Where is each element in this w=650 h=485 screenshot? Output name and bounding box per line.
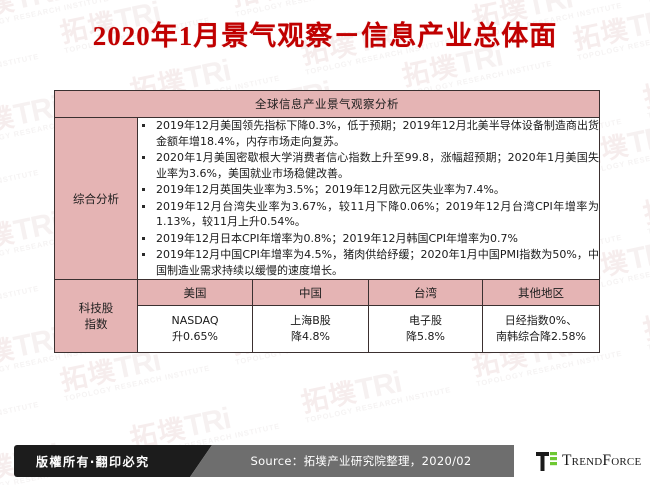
list-item: 2019年12月中国CPI年增率为4.5%，猪肉供给纾缓；2020年1月中国PM… [138,247,599,278]
trendforce-logo-icon [536,452,557,471]
watermark-mark: 拓墣TRiTOPOLOGY RESEARCH INSTITUTE [297,351,452,425]
watermark-mark: 拓墣TRiTOPOLOGY RESEARCH INSTITUTE [639,0,650,4]
analysis-content-cell: 2019年12月美国领先指标下降0.3%，低于预期；2019年12月北美半导体设… [138,118,600,280]
watermark-subtitle: TOPOLOGY RESEARCH INSTITUTE [646,80,650,120]
watermark-cn-text: 拓墣 [641,188,650,229]
watermark-cn-text: 拓墣 [0,218,18,259]
region-value-china-line2: 降4.8% [253,329,368,345]
region-header-china: 中国 [253,280,369,306]
watermark-subtitle: TOPOLOGY RESEARCH INSTITUTE [646,0,650,4]
watermark-cn-text: 拓墣 [0,102,18,143]
region-value-taiwan-line2: 降5.8% [369,329,482,345]
watermark-mark: 拓墣TRiTOPOLOGY RESEARCH INSTITUTE [639,278,650,352]
watermark-subtitle: TOPOLOGY RESEARCH INSTITUTE [304,385,451,425]
watermark-subtitle: TOPOLOGY RESEARCH INSTITUTE [646,312,650,352]
region-value-other-line2: 南韩综合降2.58% [483,329,599,345]
region-value-us: NASDAQ 升0.65% [138,306,253,353]
stock-index-row-label: 科技股 指数 [55,280,138,353]
region-header-other: 其他地区 [483,280,600,306]
watermark-cn-text: 拓墣 [229,0,290,12]
source-text: Source：拓墣产业研究院整理，2020/02 [251,453,480,469]
watermark-mark: 拓墣TRiTOPOLOGY RESEARCH INSTITUTE [639,162,650,236]
watermark-cn-text: 拓墣 [400,51,461,92]
watermark-subtitle: TOPOLOGY RESEARCH INSTITUTE [475,349,622,389]
region-value-taiwan-line1: 电子股 [369,313,482,329]
list-item: 2019年12月英国失业率为3.5%；2019年12月欧元区失业率为7.4%。 [138,182,599,198]
footer-inner: 版權所有‧翻印必究 Source：拓墣产业研究院整理，2020/02 Trend… [14,445,636,477]
list-item: 2020年1月美国密歇根大学消费者信心指数上升至99.8，涨幅超预期；2020年… [138,150,599,181]
watermark-subtitle: TOPOLOGY RESEARCH INSTITUTE [0,400,40,440]
watermark-tri-text: TRi [625,119,650,161]
region-header-us: 美国 [138,280,253,306]
region-value-other: 日经指数0%、 南韩综合降2.58% [483,306,600,353]
trendforce-logo: TrendForce [514,445,650,477]
watermark-tri-text: TRi [283,0,334,1]
table-header-row: 全球信息产业景气观察分析 [55,91,600,118]
list-item: 2019年12月台湾失业率为3.67%，较11月下降0.06%；2019年12月… [138,199,599,230]
watermark-tri-text: TRi [625,235,650,277]
analysis-bullet-list: 2019年12月美国领先指标下降0.3%，低于预期；2019年12月北美半导体设… [138,118,599,278]
watermark-mark: 拓墣TRiTOPOLOGY RESEARCH INSTITUTE [0,366,40,440]
watermark-cn-text: 拓墣 [0,334,18,375]
analysis-row-label: 综合分析 [55,118,138,280]
watermark-subtitle: TOPOLOGY RESEARCH INSTITUTE [646,196,650,236]
watermark-subtitle: TOPOLOGY RESEARCH INSTITUTE [0,284,40,324]
copyright-text: 版權所有‧翻印必究 [14,453,150,470]
region-value-other-line1: 日经指数0%、 [483,313,599,329]
region-value-us-line1: NASDAQ [138,313,252,329]
region-value-us-line2: 升0.65% [138,329,252,345]
slide-footer: 版權所有‧翻印必究 Source：拓墣产业研究院整理，2020/02 Trend… [0,437,650,485]
watermark-cn-text: 拓墣 [641,72,650,113]
region-header-taiwan: 台湾 [369,280,483,306]
region-value-china-line1: 上海B股 [253,313,368,329]
region-header-row: 科技股 指数 美国 中国 台湾 其他地区 [55,280,600,306]
watermark-mark: 拓墣TRiTOPOLOGY RESEARCH INSTITUTE [0,250,40,324]
slide-title-bar: 2020年1月景气观察－信息产业总体面 [0,14,650,53]
watermark-mark: 拓墣TRiTOPOLOGY RESEARCH INSTITUTE [0,134,40,208]
table-header-title: 全球信息产业景气观察分析 [55,91,600,118]
list-item: 2019年12月美国领先指标下降0.3%，低于预期；2019年12月北美半导体设… [138,118,599,149]
region-value-china: 上海B股 降4.8% [253,306,369,353]
watermark-mark: 拓墣TRiTOPOLOGY RESEARCH INSTITUTE [639,46,650,120]
watermark-subtitle: TOPOLOGY RESEARCH INSTITUTE [0,52,40,92]
watermark-cn-text: 拓墣 [641,304,650,345]
region-value-taiwan: 电子股 降5.8% [369,306,483,353]
page-title: 2020年1月景气观察－信息产业总体面 [93,21,558,51]
stock-index-label-line1: 科技股 [55,300,137,316]
source-bar: Source：拓墣产业研究院整理，2020/02 [190,445,540,477]
watermark-cn-text: 拓墣 [58,355,119,396]
watermark-cn-text: 拓墣 [299,377,360,418]
watermark-tri-text: TRi [353,366,404,408]
list-item: 2019年12月日本CPI年增率为0.8%；2019年12月韩国CPI年增率为0… [138,231,599,247]
watermark-subtitle: TOPOLOGY RESEARCH INSTITUTE [63,363,210,403]
trendforce-logo-text: TrendForce [562,452,641,470]
analysis-row: 综合分析 2019年12月美国领先指标下降0.3%，低于预期；2019年12月北… [55,118,600,280]
observation-table: 全球信息产业景气观察分析 综合分析 2019年12月美国领先指标下降0.3%，低… [54,90,600,353]
stock-index-label-line2: 指数 [55,316,137,332]
watermark-subtitle: TOPOLOGY RESEARCH INSTITUTE [0,168,40,208]
